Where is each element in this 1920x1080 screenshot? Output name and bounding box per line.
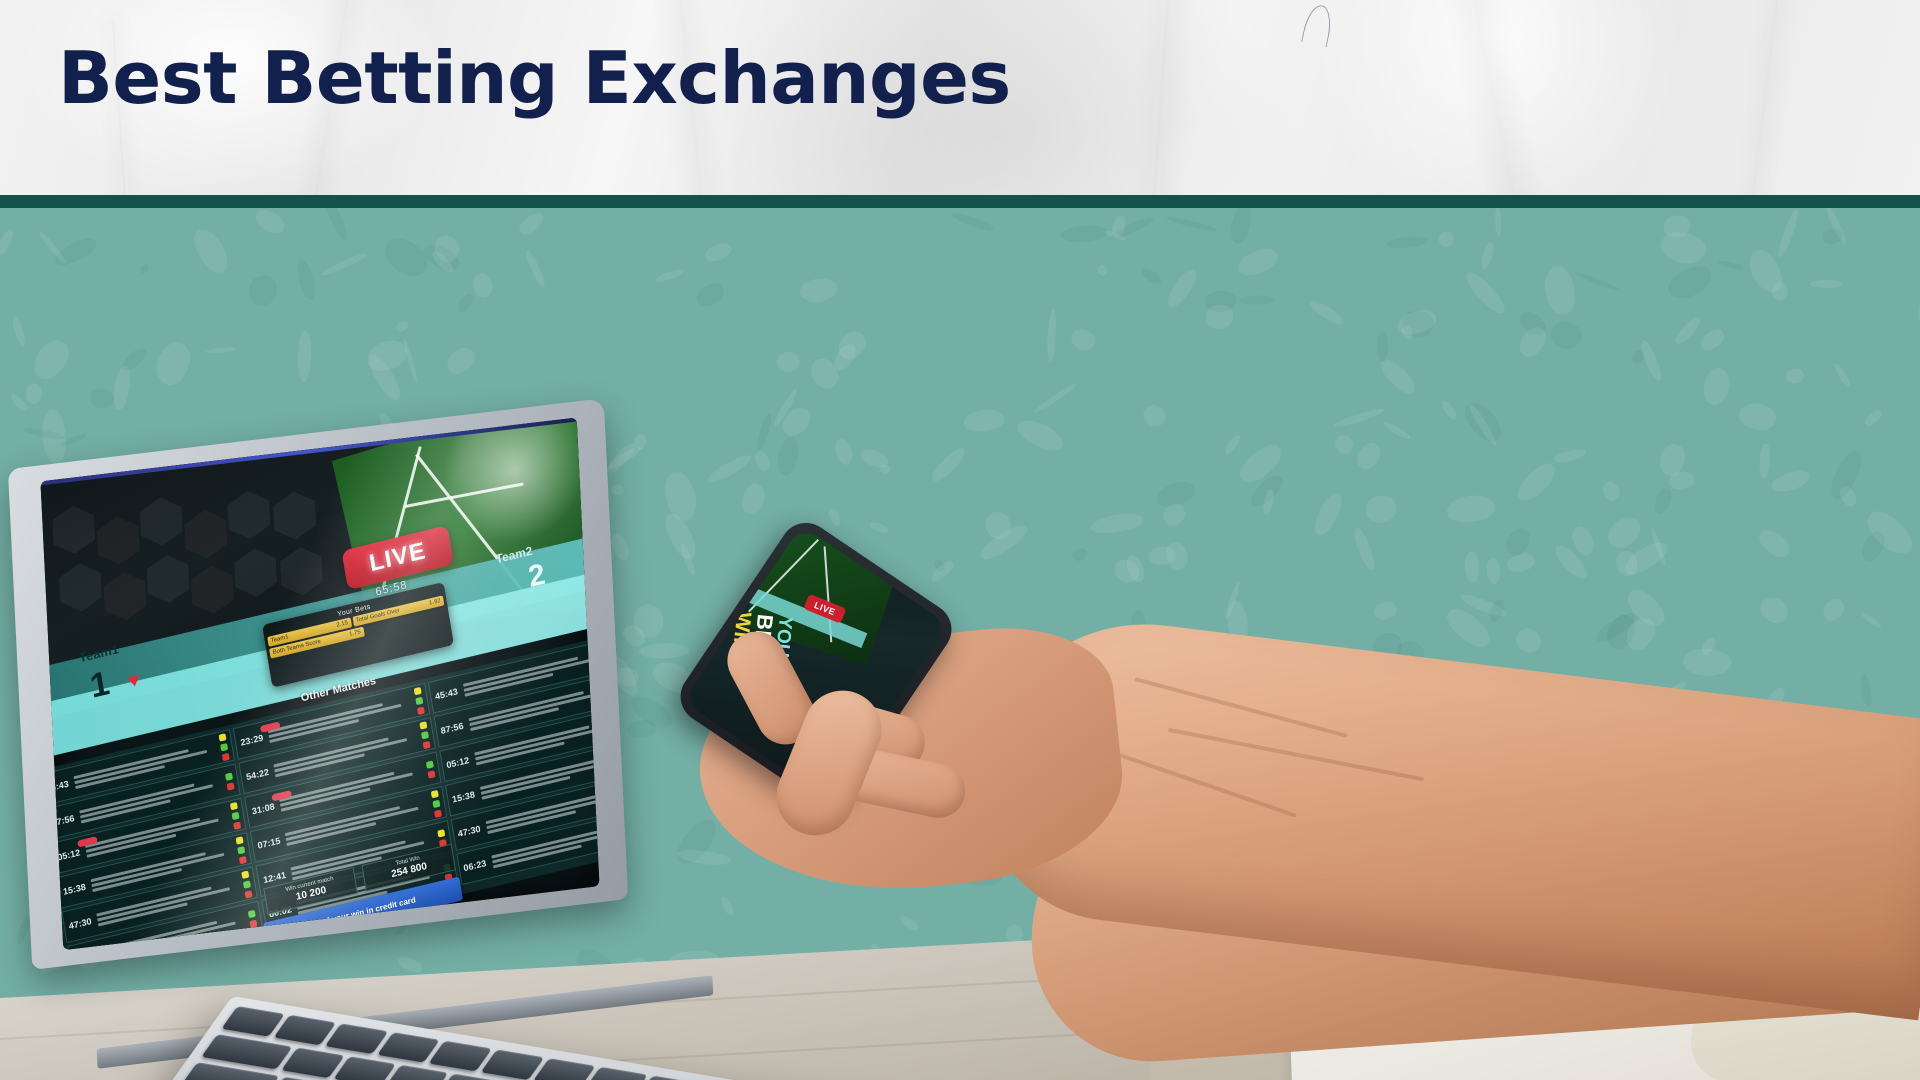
status-dot-up-icon [432,799,440,807]
texture-blob [1140,266,1164,287]
texture-blob [1223,433,1243,456]
status-dot-warn-icon [419,721,427,729]
texture-blob [0,227,16,257]
texture-blob [1462,267,1508,317]
odds-time: 05:12 [57,847,84,863]
texture-blob [1095,263,1109,277]
texture-blob [1166,215,1217,233]
texture-blob [252,208,288,238]
texture-blob [1333,433,1356,456]
texture-blob [1068,325,1099,355]
texture-blob [1699,365,1733,408]
stadium-floodlight [436,418,586,555]
texture-blob [1863,408,1884,427]
texture-blob [111,365,134,411]
texture-blob [655,267,685,283]
texture-blob [89,387,115,410]
texture-blob [1365,495,1397,524]
paper-crease [1150,0,1173,195]
texture-blob [1162,266,1201,311]
status-dot-down-icon [239,855,247,863]
status-dot-warn-icon [219,733,227,741]
texture-blob [1495,208,1502,237]
texture-blob [951,209,995,233]
texture-blob [524,250,548,290]
status-dot-warn-icon [437,829,445,837]
status-dot-up-icon [425,760,433,768]
status-dot-up-icon [415,696,423,704]
status-dot-warn-icon [413,686,421,694]
texture-blob [985,511,1012,540]
texture-blob [1736,398,1779,434]
texture-blob [1546,316,1585,355]
texture-blob [1463,552,1479,584]
texture-blob [1819,595,1849,624]
texture-blob [1784,367,1805,386]
status-dot-down-icon [227,782,235,790]
bet-chip-label: Team1 [270,634,289,644]
texture-blob [1672,315,1704,347]
teal-background: LIVE 65:58 Team1 Team2 1 ♥ 2 Your Bets T… [0,208,1920,1080]
keyboard-key[interactable] [201,1034,292,1069]
status-dot-warn-icon [242,870,250,878]
odds-time: 45:43 [434,686,461,702]
texture-blob [394,319,409,334]
live-badge-label: LIVE [367,537,428,578]
texture-blob [1615,551,1638,577]
texture-blob [1505,551,1537,576]
texture-blob [1512,459,1560,506]
keyboard-key[interactable] [281,1048,344,1079]
bet-chip-value: 1.92 [429,598,441,607]
texture-blob [320,208,351,242]
texture-blob [1916,276,1920,324]
laptop-screen[interactable]: LIVE 65:58 Team1 Team2 1 ♥ 2 Your Bets T… [40,418,599,951]
texture-blob [1166,541,1190,572]
status-dot-down-icon [250,919,258,927]
texture-blob [1485,558,1501,586]
texture-blob [10,316,27,348]
texture-blob [188,223,233,278]
texture-blob [1859,673,1873,708]
status-dot-down-icon [222,752,230,760]
odds-time: 15:38 [62,881,89,897]
texture-blob [516,209,546,238]
odds-time: 15:38 [451,789,478,805]
status-dot-down-icon [233,821,241,829]
odds-status-dots [248,909,258,927]
texture-blob [319,252,368,278]
texture-blob [456,291,476,315]
odds-status-dots [430,789,441,817]
texture-blob [379,230,433,284]
texture-blob [138,263,149,274]
texture-blob [1758,444,1771,479]
texture-blob [443,343,479,380]
texture-blob [1436,229,1457,250]
laptop-lid: LIVE 65:58 Team1 Team2 1 ♥ 2 Your Bets T… [8,398,628,970]
texture-blob [1775,208,1801,258]
header-divider [0,195,1920,208]
keyboard-key[interactable] [333,1056,396,1080]
texture-blob [1309,490,1347,539]
texture-blob [206,347,237,355]
texture-blob [1333,407,1385,430]
texture-blob [1234,245,1280,279]
status-dot-down-icon [427,770,435,778]
texture-blob [1599,479,1623,504]
odds-status-dots [230,801,241,829]
texture-blob [703,239,735,265]
status-dot-up-icon [248,909,256,917]
texture-blob [295,258,317,301]
texture-blob [1382,420,1411,442]
odds-time: 87:56 [440,720,467,736]
texture-blob [1372,599,1400,623]
texture-blob [1071,546,1090,564]
odds-time: 05:12 [446,754,473,770]
texture-blob [1832,362,1851,388]
texture-blob [1440,399,1460,421]
texture-blob [1543,265,1577,317]
odds-status-dots [236,836,247,864]
texture-blob [1756,594,1791,626]
texture-blob [1574,271,1619,293]
status-dot-up-icon [220,742,228,750]
texture-blob [799,278,837,303]
texture-blob [1698,327,1728,354]
texture-blob [1060,225,1107,244]
status-dot-down-icon [417,706,425,714]
texture-blob [1718,259,1745,272]
status-dot-up-icon [225,772,233,780]
texture-blob [1353,438,1386,473]
texture-blob [1554,448,1587,464]
odds-time: 54:22 [245,766,272,782]
texture-blob [1014,413,1068,457]
texture-blob [1822,229,1844,244]
paper-crease [1744,1,1778,195]
texture-blob [1309,297,1347,328]
texture-blob [1603,513,1646,554]
odds-time: 31:08 [251,801,278,817]
odds-status-dots [419,721,430,749]
odds-time: 87:56 [51,812,78,828]
status-dot-up-icon [232,811,240,819]
texture-blob [1033,382,1077,414]
page-title: Best Betting Exchanges [58,36,1011,120]
texture-blob [1387,235,1428,249]
status-dot-warn-icon [430,789,438,797]
texture-blob [25,384,42,406]
status-dot-up-icon [243,880,251,888]
odds-column: 45:4387:5605:1215:3847:3006:23 [40,729,264,950]
texture-blob [150,337,197,389]
texture-blob [1810,280,1844,289]
texture-blob [1090,512,1144,536]
texture-blob [1045,309,1057,362]
odds-time: 07:15 [257,835,284,851]
texture-blob [1859,610,1881,629]
status-dot-warn-icon [230,801,238,809]
status-dot-down-icon [422,740,430,748]
status-dot-down-icon [434,809,442,817]
status-dot-up-icon [421,731,429,739]
texture-blob [119,345,149,374]
texture-blob [1227,208,1255,245]
bet-chip-value: 2.15 [336,620,348,629]
bet-chip-value: 1.75 [349,629,361,638]
odds-status-dots [225,772,235,790]
texture-blob [773,349,802,377]
odds-time: 47:30 [68,915,95,931]
odds-status-dots [425,760,435,778]
paper-crease [1470,0,1523,195]
texture-blob [964,409,1006,433]
odds-status-dots [219,733,230,761]
status-dot-down-icon [245,890,253,898]
texture-blob [297,331,312,382]
texture-blob [1824,447,1868,503]
texture-blob [37,229,67,264]
texture-blob [1140,402,1169,431]
texture-blob [1664,261,1717,303]
texture-blob [248,274,279,307]
odds-time: 45:43 [45,778,72,794]
texture-blob [1446,494,1496,523]
texture-blob [1376,331,1389,362]
keyboard-key[interactable] [385,1065,448,1080]
texture-blob [1756,526,1794,563]
status-dot-up-icon [237,845,245,853]
texture-blob [1479,241,1495,271]
odds-status-dots [242,870,253,898]
texture-blob [1770,469,1812,495]
texture-blob [1351,526,1377,572]
texture-blob [27,334,77,385]
texture-blob [1240,296,1275,305]
texture-blob [1653,486,1673,514]
odds-time: 23:29 [240,732,267,748]
texture-blob [1512,624,1545,658]
paper-fiber-mark [1301,3,1335,48]
odds-status-dots [413,686,424,714]
texture-blob [693,279,728,310]
status-dot-warn-icon [236,836,244,844]
